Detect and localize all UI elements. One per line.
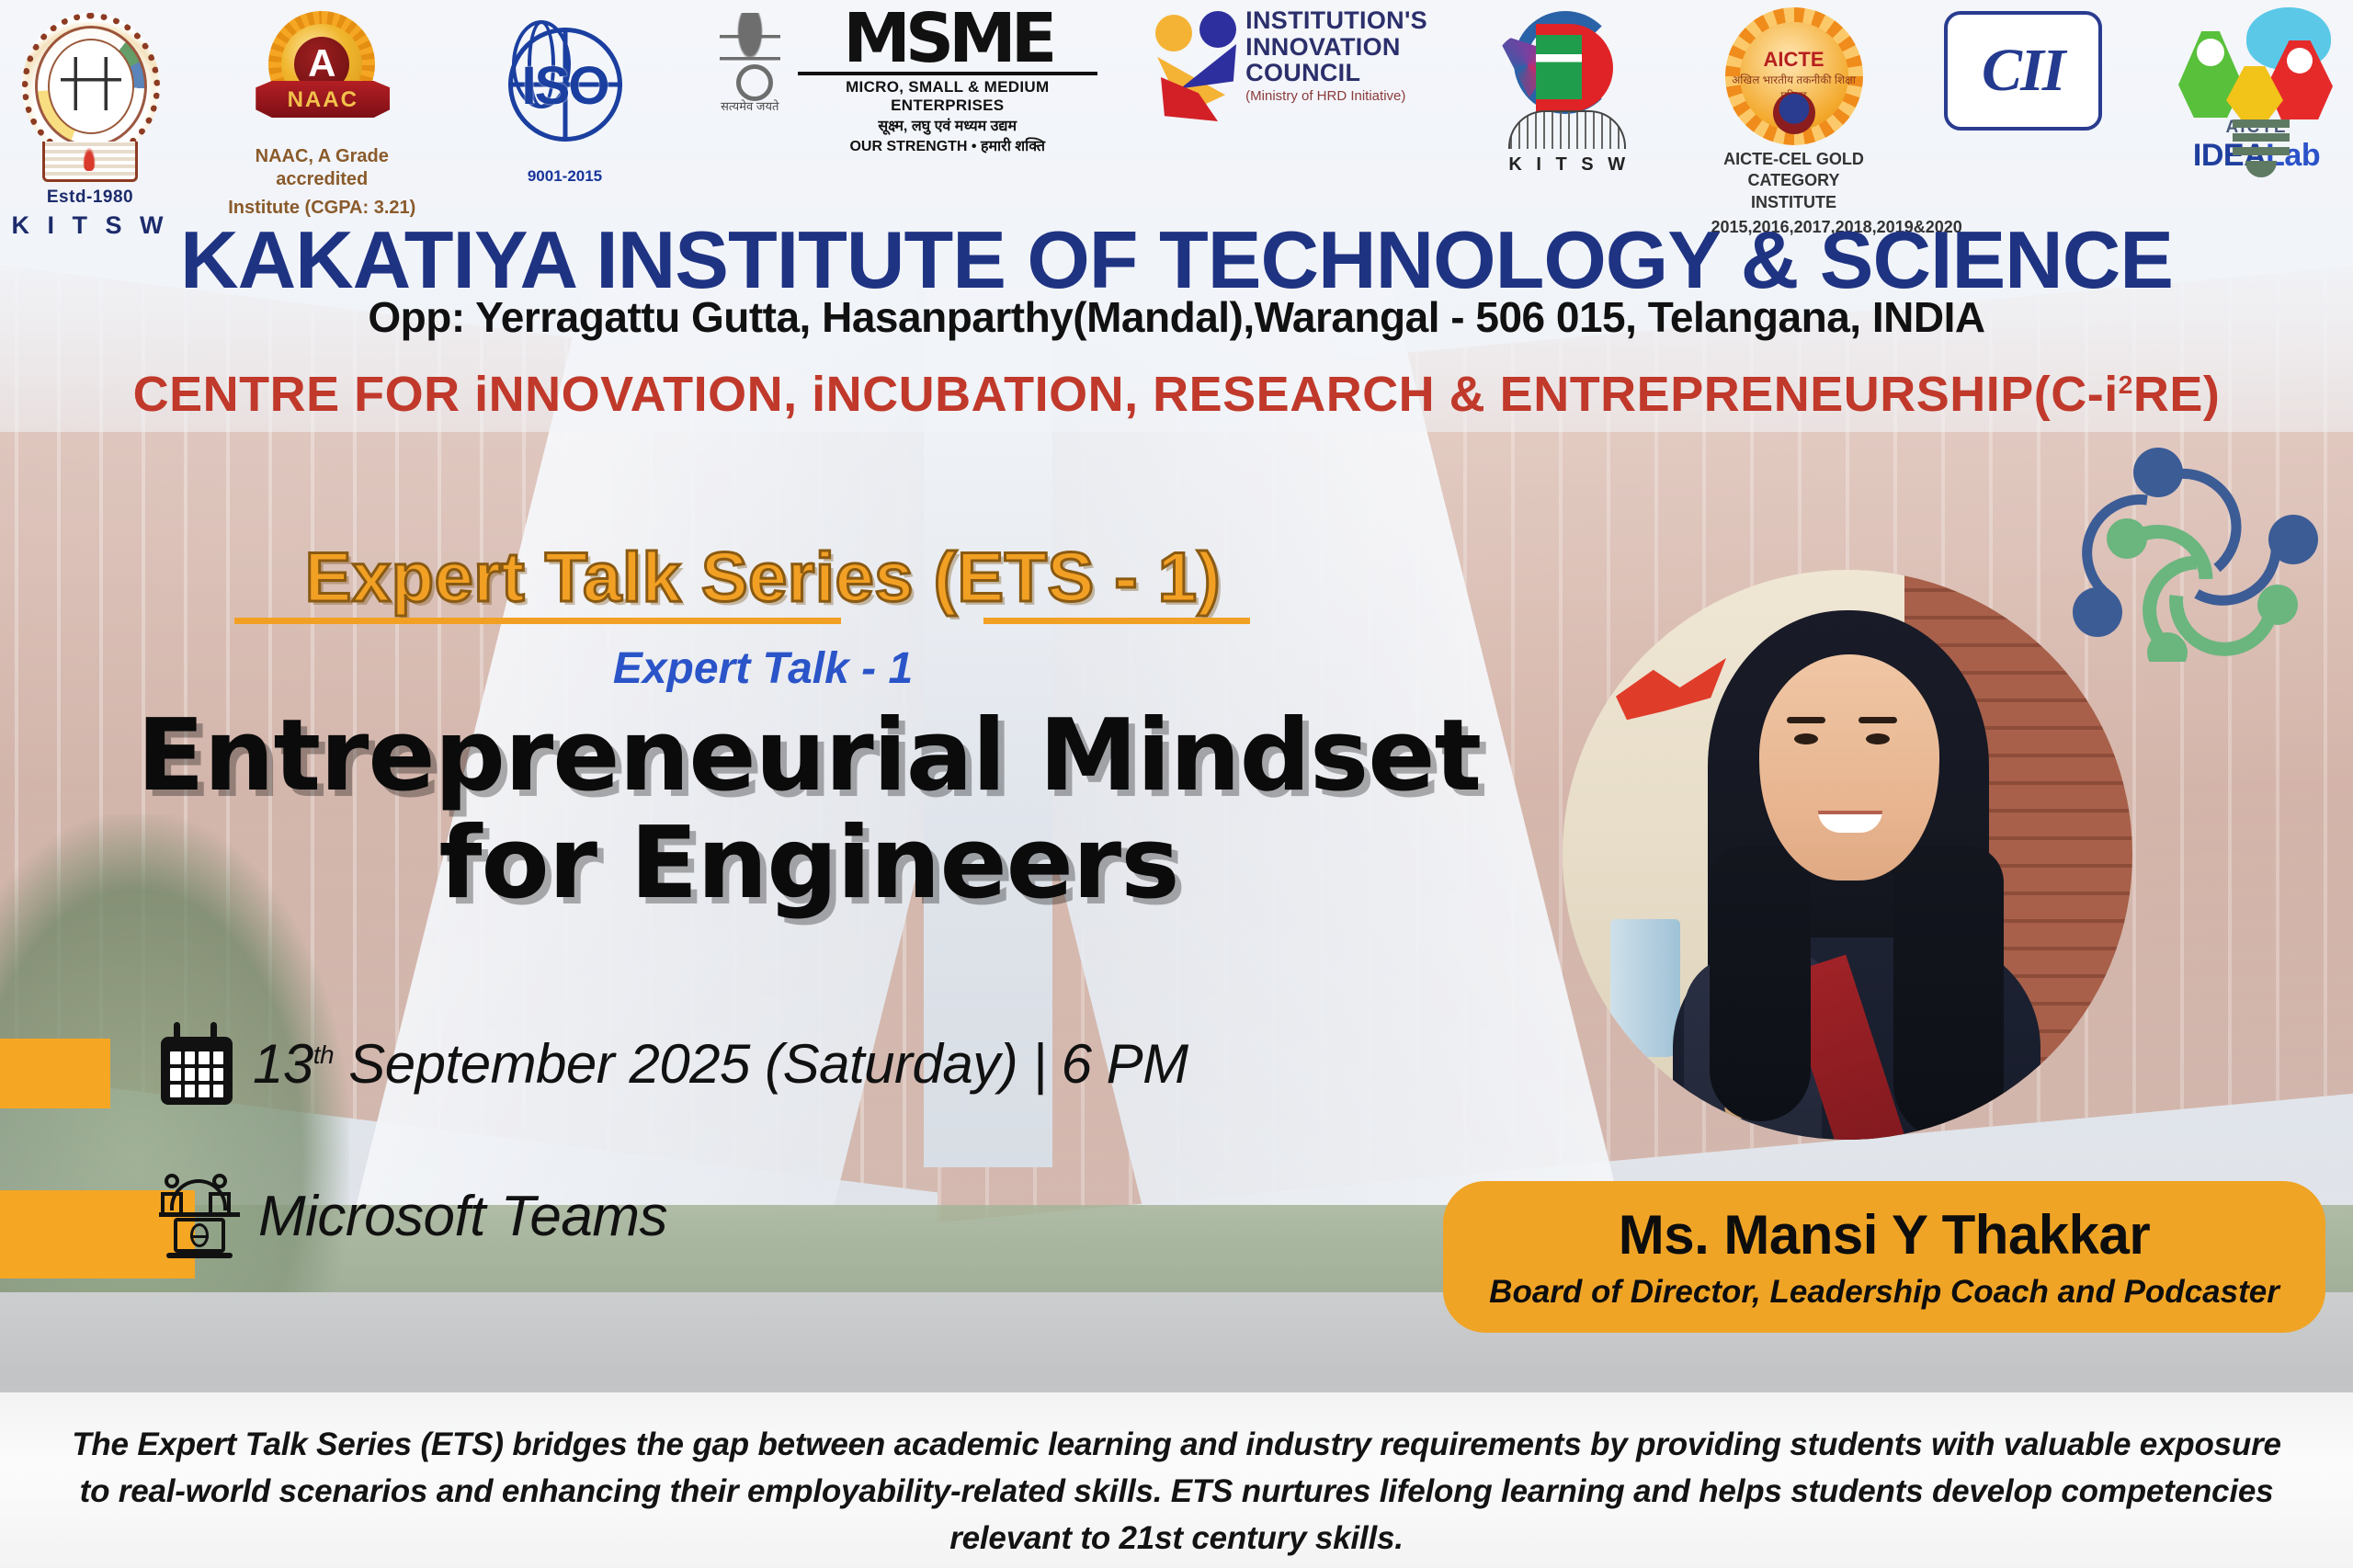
- aicte-idea-lab-logo: AICTE IDEALab: [2169, 7, 2344, 174]
- seal-flame-icon: [83, 147, 96, 171]
- series-title-underline-left: [234, 618, 841, 624]
- cii-wordmark: CII: [1982, 36, 2063, 106]
- naac-caption-line1: NAAC, A Grade accredited: [225, 145, 418, 191]
- accent-bar-date: [0, 1039, 110, 1108]
- idea-lab-people-icon: [2178, 7, 2335, 118]
- event-headline: Entrepreneurial Mindset for Engineers: [37, 703, 1581, 917]
- iic-yellow-dot: [1155, 15, 1192, 51]
- iso-wordmark: ISO: [483, 55, 648, 117]
- speaker-info-box: Ms. Mansi Y Thakkar Board of Director, L…: [1443, 1181, 2325, 1333]
- aicte-emblem-dot: [1773, 92, 1815, 134]
- msme-tagline: OUR STRENGTH • हमारी शक्ति: [798, 135, 1097, 155]
- network-node-green-1: [2107, 518, 2147, 559]
- online-meeting-icon: [161, 1172, 238, 1260]
- institute-address: Opp: Yerragattu Gutta, Hasanparthy(Manda…: [0, 292, 2353, 342]
- event-date-text: 13th September 2025 (Saturday) | 6 PM: [253, 1032, 1188, 1096]
- centre-name-superscript: 2: [2119, 370, 2133, 399]
- iic-note: (Ministry of HRD Initiative): [1245, 88, 1427, 104]
- ashoka-lions: [720, 13, 780, 97]
- iic-blue-dot: [1199, 11, 1236, 48]
- iso-standard-number: 9001-2015: [483, 167, 648, 186]
- edc-bridge-icon: [1508, 110, 1626, 149]
- iic-figure-icon: [1152, 7, 1238, 118]
- idea-lab-red-head: [2287, 48, 2313, 74]
- event-date-rest: September 2025 (Saturday) | 6 PM: [334, 1033, 1188, 1095]
- speaker-photo: [1563, 570, 2132, 1140]
- iic-logo: INSTITUTION'S INNOVATION COUNCIL (Minist…: [1152, 7, 1427, 118]
- idea-lab-bulb-icon: [2232, 119, 2290, 180]
- event-day: 13: [253, 1033, 313, 1095]
- series-title-underline-right: [983, 618, 1250, 624]
- event-poster: Estd-1980 K I T S W A NAAC NAAC, A Grade…: [0, 0, 2353, 1568]
- seal-machinery-icon: [61, 57, 121, 110]
- edc-green-e: [1536, 35, 1582, 99]
- event-venue-row: Microsoft Teams: [161, 1172, 667, 1260]
- talk-number: Expert Talk - 1: [184, 643, 1342, 694]
- network-node-green-2: [2257, 585, 2298, 625]
- headline-line-1: Entrepreneurial Mindset: [37, 703, 1581, 811]
- aicte-gear-icon: AICTE अखिल भारतीय तकनीकी शिक्षा परिषद: [1725, 7, 1863, 145]
- poster-footer: The Expert Talk Series (ETS) bridges the…: [0, 1392, 2353, 1568]
- calendar-icon: [161, 1022, 233, 1105]
- naac-ribbon-label: NAAC: [256, 81, 390, 118]
- network-node-blue-2: [2268, 515, 2318, 564]
- edc-mark-icon: [1495, 7, 1643, 127]
- series-title: Expert Talk Series (ETS - 1): [184, 538, 1342, 618]
- accreditation-logo-row: Estd-1980 K I T S W A NAAC NAAC, A Grade…: [0, 7, 2353, 219]
- msme-wordmark: MSME: [798, 7, 1097, 70]
- network-node-blue-1: [2133, 448, 2183, 497]
- event-date-row: 13th September 2025 (Saturday) | 6 PM: [161, 1022, 1188, 1105]
- edc-label: K I T S W: [1482, 154, 1656, 176]
- centre-name-suffix: RE): [2133, 367, 2221, 422]
- speaker-name: Ms. Mansi Y Thakkar: [1619, 1203, 2151, 1267]
- cii-logo: CII: [1931, 7, 2115, 131]
- iso-logo: ISO 9001-2015: [473, 7, 657, 191]
- naac-medal-icon: A NAAC: [259, 11, 384, 140]
- iic-line2: INNOVATION: [1245, 34, 1427, 61]
- india-emblem-icon: सत्यमेव जयते: [711, 7, 789, 114]
- aicte-logo: AICTE अखिल भारतीय तकनीकी शिक्षा परिषद AI…: [1711, 7, 1877, 239]
- iso-globe-icon: ISO 9001-2015: [483, 7, 648, 191]
- idea-lab-green-head: [2197, 39, 2224, 66]
- edc-kitsw-logo: K I T S W: [1482, 7, 1656, 127]
- headline-line-2: for Engineers: [37, 811, 1581, 918]
- aicte-caption-line1: AICTE-CEL GOLD CATEGORY INSTITUTE: [1711, 149, 1877, 213]
- event-venue-text: Microsoft Teams: [258, 1184, 667, 1249]
- centre-name: CENTRE FOR iNNOVATION, iNCUBATION, RESEA…: [0, 366, 2353, 423]
- footer-description: The Expert Talk Series (ETS) bridges the…: [55, 1422, 2298, 1562]
- msme-subtitle-hi: सूक्ष्म, लघु एवं मध्यम उद्यम: [798, 115, 1097, 135]
- event-day-ordinal: th: [313, 1040, 334, 1069]
- iic-line3: COUNCIL: [1245, 60, 1427, 86]
- kitsw-seal-logo: Estd-1980 K I T S W: [9, 7, 171, 200]
- msme-subtitle-en: MICRO, SMALL & MEDIUM ENTERPRISES: [798, 78, 1097, 115]
- cii-box: CII: [1944, 11, 2102, 131]
- naac-logo: A NAAC NAAC, A Grade accredited Institut…: [225, 7, 418, 220]
- msme-logo: सत्यमेव जयते MSME MICRO, SMALL & MEDIUM …: [711, 7, 1097, 155]
- aicte-wordmark: AICTE: [1725, 48, 1863, 72]
- speaker-role: Board of Director, Leadership Coach and …: [1489, 1274, 2279, 1311]
- poster-header: Estd-1980 K I T S W A NAAC NAAC, A Grade…: [0, 0, 2353, 432]
- centre-name-prefix: CENTRE FOR iNNOVATION, iNCUBATION, RESEA…: [133, 367, 2119, 422]
- seal-estd-label: Estd-1980: [9, 187, 171, 208]
- iic-line1: INSTITUTION'S: [1245, 7, 1427, 34]
